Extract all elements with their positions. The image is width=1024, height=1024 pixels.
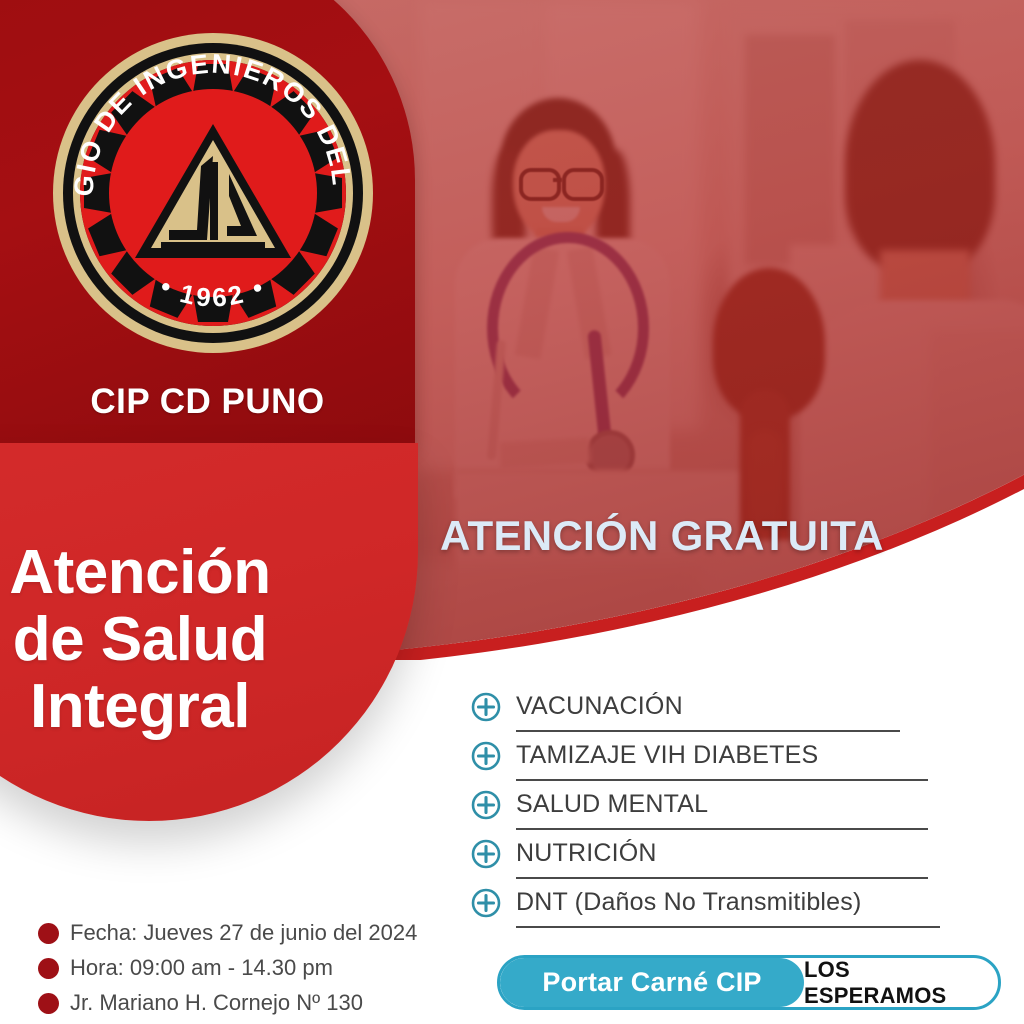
carnet-requirement-badge: Portar Carné CIP (500, 958, 804, 1007)
service-item: SALUD MENTAL (470, 786, 930, 824)
service-label: VACUNACIÓN (516, 692, 683, 721)
health-campaign-poster: COLEGIO DE INGENIEROS DEL PERU • 1962 • … (0, 0, 1024, 1024)
cip-logo: COLEGIO DE INGENIEROS DEL PERU • 1962 • (48, 28, 378, 358)
service-label: SALUD MENTAL (516, 790, 708, 819)
service-item: DNT (Daños No Transmitibles) (470, 884, 930, 922)
service-underline (516, 828, 928, 830)
detail-row: Jr. Mariano H. Cornejo Nº 130 (38, 990, 458, 1016)
title-line-1: Atención (0, 540, 400, 607)
service-label: NUTRICIÓN (516, 839, 657, 868)
detail-date: Fecha: Jueves 27 de junio del 2024 (70, 920, 417, 946)
service-underline (516, 926, 940, 928)
service-label: TAMIZAJE VIH DIABETES (516, 741, 818, 770)
detail-row: Hora: 09:00 am - 14.30 pm (38, 955, 458, 981)
red-dot-icon (38, 958, 59, 979)
event-details: Fecha: Jueves 27 de junio del 2024 Hora:… (38, 920, 458, 1024)
chapter-label: CIP CD PUNO (0, 382, 415, 422)
service-item: VACUNACIÓN (470, 688, 930, 726)
service-underline (516, 730, 900, 732)
red-dot-icon (38, 993, 59, 1014)
plus-circle-icon (470, 838, 502, 870)
title-line-3: Integral (0, 674, 400, 741)
free-care-headline: ATENCIÓN GRATUITA (440, 512, 884, 560)
page-title: Atención de Salud Integral (0, 540, 400, 741)
service-underline (516, 877, 928, 879)
red-dot-icon (38, 923, 59, 944)
detail-time: Hora: 09:00 am - 14.30 pm (70, 955, 333, 981)
service-underline (516, 779, 928, 781)
service-label: DNT (Daños No Transmitibles) (516, 888, 862, 917)
cta-banner: Portar Carné CIP LOS ESPERAMOS (497, 955, 1001, 1010)
detail-address: Jr. Mariano H. Cornejo Nº 130 (70, 990, 363, 1016)
detail-row: Fecha: Jueves 27 de junio del 2024 (38, 920, 458, 946)
plus-circle-icon (470, 740, 502, 772)
services-list: VACUNACIÓN TAMIZAJE VIH DIABETES SALUD M… (470, 688, 930, 933)
title-line-2: de Salud (0, 607, 400, 674)
service-item: TAMIZAJE VIH DIABETES (470, 737, 930, 775)
plus-circle-icon (470, 789, 502, 821)
plus-circle-icon (470, 887, 502, 919)
plus-circle-icon (470, 691, 502, 723)
service-item: NUTRICIÓN (470, 835, 930, 873)
we-await-you-badge: LOS ESPERAMOS (804, 958, 998, 1007)
